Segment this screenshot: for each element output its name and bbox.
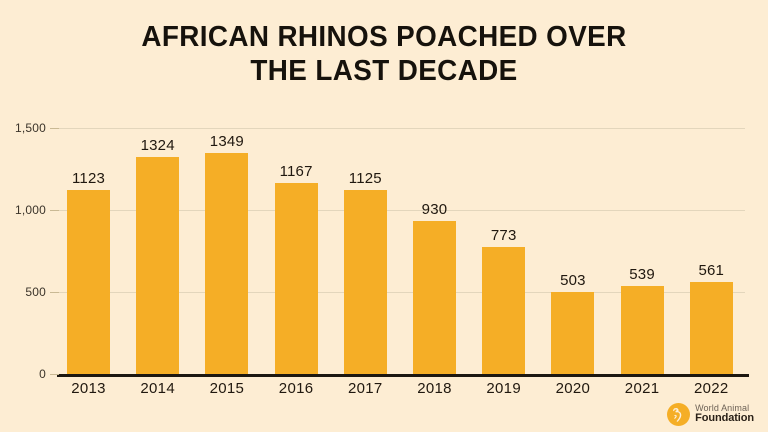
brand-line-2: Foundation	[695, 413, 754, 424]
bar-2022[interactable]	[690, 282, 733, 374]
bar-chart: 05001,0001,500 1123201313242014134920151…	[0, 0, 768, 432]
bar-value-label: 1324	[120, 137, 195, 154]
world-animal-foundation-logo-icon	[667, 403, 690, 426]
bar-value-label: 1349	[189, 133, 264, 150]
bar-2020[interactable]	[551, 292, 594, 374]
brand-logo: World Animal Foundation	[667, 403, 754, 426]
bar-2019[interactable]	[482, 247, 525, 374]
bar-2021[interactable]	[621, 286, 664, 374]
x-axis-label-2015: 2015	[189, 380, 264, 397]
bar-value-label: 1167	[259, 163, 334, 180]
x-axis-label-2021: 2021	[605, 380, 680, 397]
chart-poster: AFRICAN RHINOS POACHED OVER THE LAST DEC…	[0, 0, 768, 432]
bar-value-label: 1123	[51, 170, 126, 187]
x-axis-label-2019: 2019	[466, 380, 541, 397]
bar-value-label: 773	[466, 227, 541, 244]
bar-2018[interactable]	[413, 221, 456, 374]
bar-value-label: 561	[674, 262, 749, 279]
x-axis-label-2013: 2013	[51, 380, 126, 397]
x-axis-label-2016: 2016	[259, 380, 334, 397]
x-axis-label-2014: 2014	[120, 380, 195, 397]
bar-2013[interactable]	[67, 190, 110, 374]
bar-2014[interactable]	[136, 157, 179, 374]
bar-value-label: 930	[397, 201, 472, 218]
bar-2016[interactable]	[275, 183, 318, 374]
bar-value-label: 503	[535, 272, 610, 289]
x-axis-label-2017: 2017	[328, 380, 403, 397]
x-axis-label-2020: 2020	[535, 380, 610, 397]
bar-value-label: 1125	[328, 170, 403, 187]
chart-bars: 1123201313242014134920151167201611252017…	[0, 0, 768, 432]
x-axis-label-2022: 2022	[674, 380, 749, 397]
x-axis-label-2018: 2018	[397, 380, 472, 397]
brand-logo-text: World Animal Foundation	[695, 404, 754, 424]
bar-value-label: 539	[605, 266, 680, 283]
bar-2017[interactable]	[344, 190, 387, 375]
bar-2015[interactable]	[205, 153, 248, 374]
